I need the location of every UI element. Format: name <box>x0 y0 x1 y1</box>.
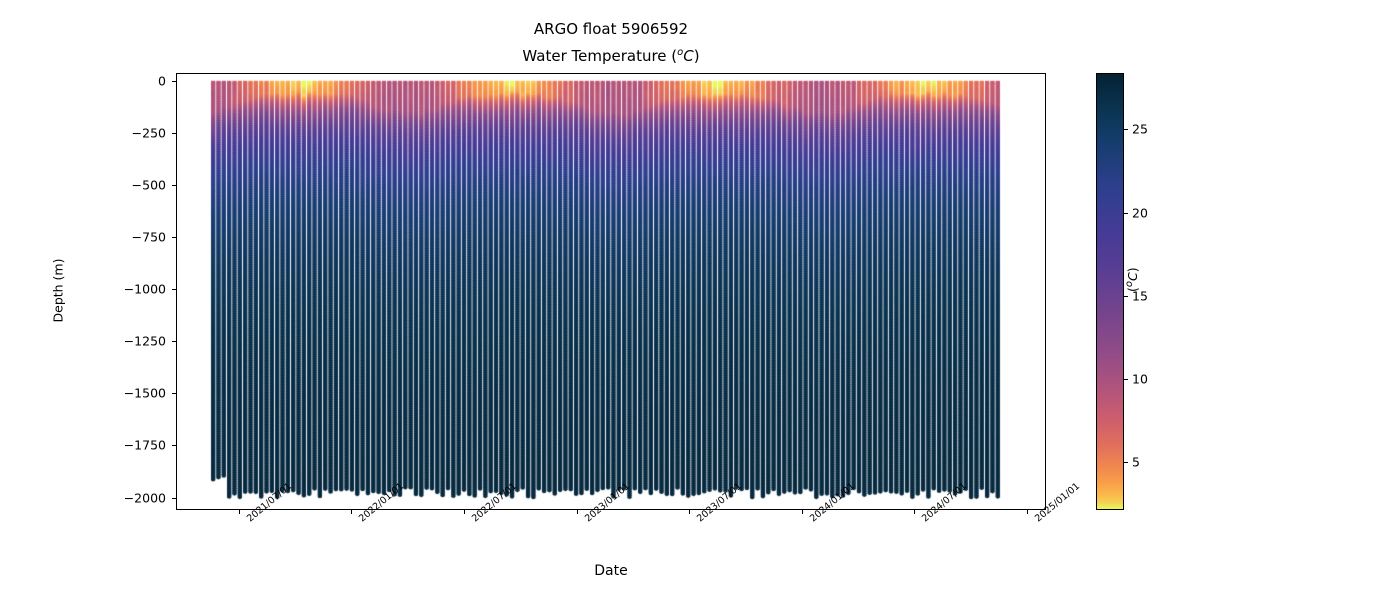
x-tick-mark <box>689 510 690 514</box>
colorbar-tick-mark <box>1124 129 1128 130</box>
x-tick-mark <box>914 510 915 514</box>
x-tick-mark <box>1027 510 1028 514</box>
y-tick-label: −1250 <box>76 334 166 349</box>
y-tick-mark <box>172 237 176 238</box>
colorbar-tick-label: 25 <box>1132 122 1148 137</box>
y-tick-label: −1750 <box>76 438 166 453</box>
x-tick-label: 2023/01/01 <box>583 516 590 524</box>
x-tick-label: 2022/07/01 <box>470 516 477 524</box>
y-tick-mark <box>172 341 176 342</box>
plot-axes <box>176 73 1046 510</box>
x-tick-mark <box>577 510 578 514</box>
y-tick-label: −1000 <box>76 282 166 297</box>
figure-title-line-2: Water Temperature (oC) <box>0 41 1222 68</box>
y-tick-mark <box>172 289 176 290</box>
figure-title-block: ARGO float 5906592 Water Temperature (oC… <box>0 18 1222 68</box>
x-tick-mark <box>351 510 352 514</box>
colorbar-degree-superscript: o <box>1124 281 1135 287</box>
y-tick-label: −500 <box>76 178 166 193</box>
y-tick-label: −250 <box>76 126 166 141</box>
y-tick-mark <box>172 81 176 82</box>
y-tick-label: −2000 <box>76 490 166 505</box>
colorbar-tick-mark <box>1124 462 1128 463</box>
colorbar-tick-mark <box>1124 296 1128 297</box>
colorbar-tick-mark <box>1124 213 1128 214</box>
x-tick-label: 2023/07/01 <box>695 516 702 524</box>
colorbar-unit-close: ) <box>1125 267 1140 272</box>
colorbar <box>1096 73 1124 510</box>
y-tick-label: −750 <box>76 230 166 245</box>
title-unit-celsius: C <box>683 47 693 65</box>
figure-canvas: ARGO float 5906592 Water Temperature (oC… <box>0 0 1400 600</box>
x-tick-label: 2024/07/01 <box>920 516 927 524</box>
x-tick-mark <box>802 510 803 514</box>
x-tick-label: 2022/01/01 <box>357 516 364 524</box>
x-tick-label: 2025/01/01 <box>1033 516 1040 524</box>
x-tick-mark <box>464 510 465 514</box>
title-unit-prefix: Water Temperature ( <box>522 47 677 65</box>
colorbar-tick-mark <box>1124 379 1128 380</box>
temperature-section-heatmap <box>177 74 1045 509</box>
y-tick-label: −1500 <box>76 386 166 401</box>
y-tick-mark <box>172 133 176 134</box>
y-tick-mark <box>172 498 176 499</box>
colorbar-tick-label: 10 <box>1132 371 1148 386</box>
y-tick-mark <box>172 185 176 186</box>
y-tick-mark <box>172 445 176 446</box>
colorbar-tick-label: 20 <box>1132 205 1148 220</box>
colorbar-tick-label: 5 <box>1132 454 1140 469</box>
y-axis-label: Depth (m) <box>51 221 66 361</box>
x-tick-label: 2024/01/01 <box>808 516 815 524</box>
colorbar-label: (oC) <box>1124 267 1140 292</box>
figure-title-line-1: ARGO float 5906592 <box>0 18 1222 41</box>
title-unit-suffix: ) <box>694 47 700 65</box>
colorbar-gradient <box>1097 74 1123 509</box>
x-axis-label: Date <box>176 563 1046 579</box>
x-tick-label: 2021/07/01 <box>245 516 252 524</box>
y-tick-label: 0 <box>76 74 166 89</box>
colorbar-unit-celsius: C <box>1125 272 1140 281</box>
y-tick-mark <box>172 393 176 394</box>
x-tick-mark <box>239 510 240 514</box>
colorbar-unit-open: ( <box>1125 287 1140 292</box>
